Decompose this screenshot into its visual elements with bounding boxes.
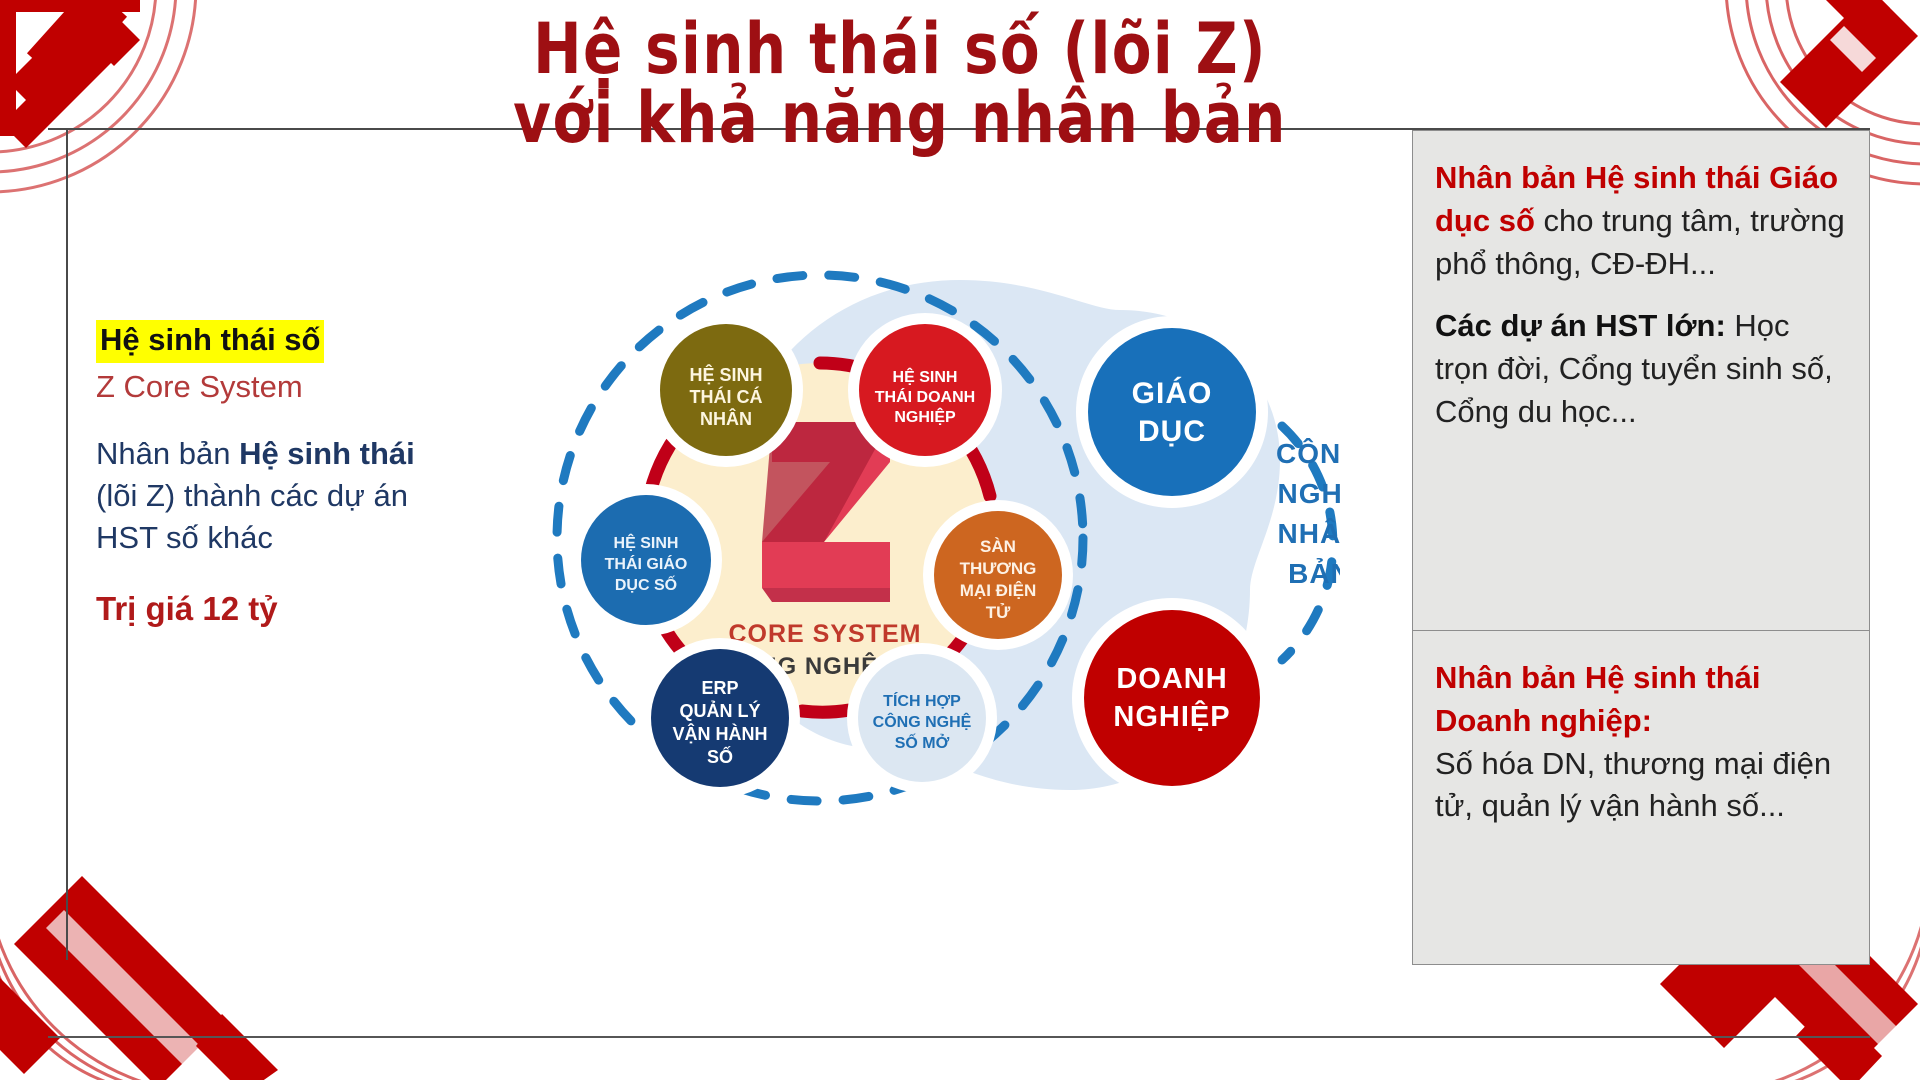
- info-card-1-heading: Nhân bản Hệ sinh thái Giáo dục số cho tr…: [1435, 157, 1847, 285]
- decorative-ribbon-bottom-left: [0, 824, 316, 1080]
- frame-divider-left: [66, 130, 68, 960]
- title-line-1: Hệ sinh thái số (lõi Z): [440, 14, 1360, 85]
- info-card-2-body: Số hóa DN, thương mại điện tử, quản lý v…: [1435, 743, 1847, 829]
- node-line-4: SỐ: [707, 746, 733, 767]
- outer-label-line-4: BẢN: [1288, 557, 1340, 589]
- info-card-2-heading: Nhân bản Hệ sinh thái Doanh nghiệp:: [1435, 657, 1847, 743]
- frame-divider-bottom: [48, 1036, 1870, 1038]
- node-line-3: VẬN HÀNH: [672, 723, 767, 744]
- node-san-thuong-mai-dien-tu[interactable]: SÀN THƯƠNG MẠI ĐIỆN TỬ: [923, 500, 1073, 650]
- satellite-line-1: DOANH: [1116, 663, 1227, 695]
- left-price-value: Trị giá 12 tỷ: [96, 590, 436, 628]
- decorative-ribbon-top-left: [0, 0, 250, 216]
- info-card-doanh-nghiep: Nhân bản Hệ sinh thái Doanh nghiệp: Số h…: [1412, 630, 1870, 965]
- satellite-giao-duc[interactable]: GIÁO DỤC: [1076, 316, 1268, 508]
- left-subtitle: Z Core System: [96, 367, 436, 407]
- node-line-2: QUẢN LÝ: [680, 700, 761, 721]
- node-line-2: CÔNG NGHỆ: [873, 712, 972, 731]
- left-body-part-b: Hệ sinh thái: [239, 436, 415, 471]
- satellite-line-1: GIÁO: [1132, 376, 1213, 410]
- ecosystem-diagram: CORE SYSTEM CÔNG NGHỆ LÕI HỆ SINH THÁI C…: [420, 190, 1340, 890]
- node-line-3: MẠI ĐIỆN: [960, 581, 1037, 600]
- node-he-sinh-thai-doanh-nghiep[interactable]: HỆ SINH THÁI DOANH NGHIỆP: [848, 313, 1002, 467]
- left-text-column: Hệ sinh thái số Z Core System Nhân bản H…: [96, 320, 436, 628]
- node-line-3: DỤC SỐ: [615, 574, 677, 594]
- node-he-sinh-thai-ca-nhan[interactable]: HỆ SINH THÁI CÁ NHÂN: [649, 313, 803, 467]
- satellite-line-2: NGHIỆP: [1113, 699, 1230, 733]
- node-line-2: THÁI DOANH: [875, 387, 975, 406]
- left-body-part-c: (lõi Z) thành các dự án HST số khác: [96, 478, 408, 555]
- left-body-paragraph: Nhân bản Hệ sinh thái (lõi Z) thành các …: [96, 433, 436, 559]
- node-line-1: HỆ SINH: [893, 367, 958, 386]
- node-tich-hop-cong-nghe-so-mo[interactable]: TÍCH HỢP CÔNG NGHỆ SỐ MỞ: [847, 643, 997, 793]
- satellite-line-2: DỤC: [1138, 415, 1206, 448]
- info-card-1-body: Các dự án HST lớn: Học trọn đời, Cổng tu…: [1435, 305, 1847, 433]
- node-line-4: TỬ: [986, 603, 1011, 622]
- node-line-1: HỆ SINH: [614, 533, 679, 552]
- node-line-2: THƯƠNG: [960, 559, 1037, 578]
- info-card-giao-duc: Nhân bản Hệ sinh thái Giáo dục số cho tr…: [1412, 130, 1870, 630]
- info-card-1-sub-bold: Các dự án HST lớn:: [1435, 308, 1726, 343]
- node-line-3: NHÂN: [700, 408, 752, 429]
- node-line-1: ERP: [701, 678, 738, 698]
- right-info-panel: Nhân bản Hệ sinh thái Giáo dục số cho tr…: [1412, 130, 1870, 965]
- core-system-label: CORE SYSTEM: [729, 620, 922, 648]
- node-erp-quan-ly-van-hanh-so[interactable]: ERP QUẢN LÝ VẬN HÀNH SỐ: [640, 638, 800, 798]
- outer-label-line-3: NHÂN: [1278, 518, 1340, 549]
- slide-title: Hệ sinh thái số (lõi Z) với khả năng nhâ…: [400, 14, 1400, 155]
- slide-canvas: Hệ sinh thái số (lõi Z) với khả năng nhâ…: [0, 0, 1920, 1080]
- outer-label-line-1: CÔNG: [1276, 437, 1340, 469]
- node-line-1: HỆ SINH: [689, 364, 762, 385]
- title-line-2: với khả năng nhân bản: [440, 83, 1360, 154]
- node-line-3: NGHIỆP: [894, 407, 956, 426]
- left-highlight-heading: Hệ sinh thái số: [96, 320, 324, 363]
- node-line-2: THÁI GIÁO: [605, 554, 688, 573]
- node-line-1: TÍCH HỢP: [883, 691, 961, 710]
- node-line-1: SÀN: [980, 537, 1016, 556]
- node-line-3: SỐ MỞ: [895, 732, 950, 752]
- node-he-sinh-thai-giao-duc-so[interactable]: HỆ SINH THÁI GIÁO DỤC SỐ: [570, 484, 722, 636]
- outer-label-line-2: NGHỆ: [1278, 478, 1340, 509]
- satellite-doanh-nghiep[interactable]: DOANH NGHIỆP: [1072, 598, 1272, 798]
- left-body-part-a: Nhân bản: [96, 436, 239, 471]
- node-line-2: THÁI CÁ: [690, 386, 763, 407]
